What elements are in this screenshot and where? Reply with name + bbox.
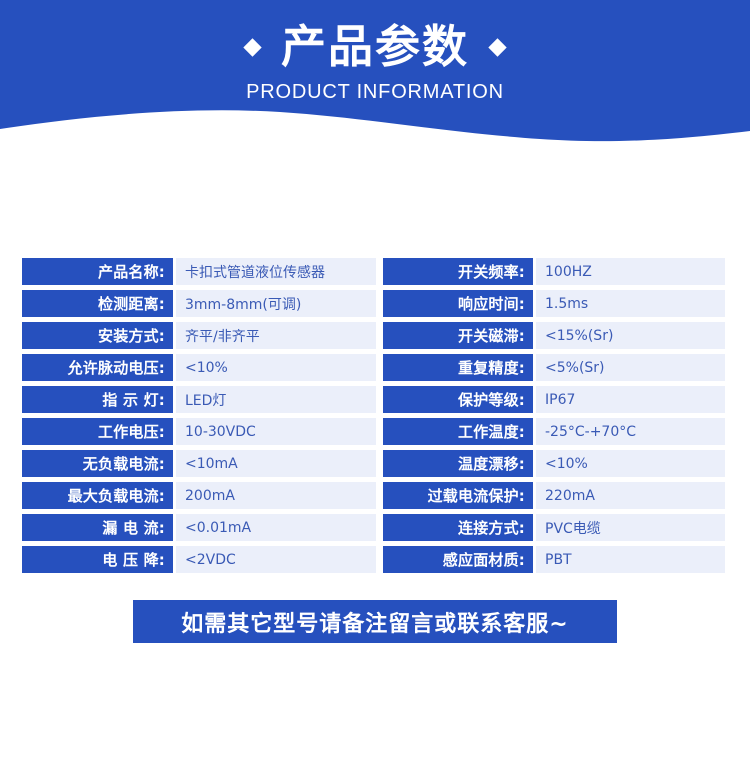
spec-label: 工作温度: [383, 418, 533, 445]
spec-value: 3mm-8mm(可调) [176, 290, 376, 317]
spec-label: 连接方式: [383, 514, 533, 541]
spec-label: 保护等级: [383, 386, 533, 413]
spec-label: 开关磁滞: [383, 322, 533, 349]
specification-tables: 产品名称: 卡扣式管道液位传感器 检测距离: 3mm-8mm(可调) 安装方式:… [0, 258, 750, 573]
table-row: 最大负载电流: 200mA [22, 482, 376, 509]
spec-label: 指 示 灯: [22, 386, 173, 413]
table-row: 安装方式: 齐平/非齐平 [22, 322, 376, 349]
spec-label: 最大负载电流: [22, 482, 173, 509]
table-row: 电 压 降: <2VDC [22, 546, 376, 573]
spec-value: 200mA [176, 482, 376, 509]
table-row: 工作电压: 10-30VDC [22, 418, 376, 445]
spec-value: 卡扣式管道液位传感器 [176, 258, 376, 285]
table-row: 漏 电 流: <0.01mA [22, 514, 376, 541]
spec-value: PBT [536, 546, 725, 573]
spec-value: 220mA [536, 482, 725, 509]
spec-value: 齐平/非齐平 [176, 322, 376, 349]
table-row: 开关磁滞: <15%(Sr) [383, 322, 725, 349]
table-row: 无负载电流: <10mA [22, 450, 376, 477]
table-row: 温度漂移: <10% [383, 450, 725, 477]
spec-label: 安装方式: [22, 322, 173, 349]
spec-value: <5%(Sr) [536, 354, 725, 381]
spec-value: 100HZ [536, 258, 725, 285]
header-content: 产品参数 PRODUCT INFORMATION [0, 0, 750, 130]
spec-value: <10mA [176, 450, 376, 477]
spec-label: 无负载电流: [22, 450, 173, 477]
spec-value: PVC电缆 [536, 514, 725, 541]
spec-label: 工作电压: [22, 418, 173, 445]
spec-table-right: 开关频率: 100HZ 响应时间: 1.5ms 开关磁滞: <15%(Sr) 重… [383, 258, 725, 573]
spec-label: 漏 电 流: [22, 514, 173, 541]
spec-value: 1.5ms [536, 290, 725, 317]
spec-label: 开关频率: [383, 258, 533, 285]
page-title-row: 产品参数 [246, 22, 504, 72]
table-row: 重复精度: <5%(Sr) [383, 354, 725, 381]
spec-value: LED灯 [176, 386, 376, 413]
spec-label: 检测距离: [22, 290, 173, 317]
spec-label: 产品名称: [22, 258, 173, 285]
spec-value: <0.01mA [176, 514, 376, 541]
spec-label: 电 压 降: [22, 546, 173, 573]
diamond-icon-left [243, 38, 261, 56]
table-row: 开关频率: 100HZ [383, 258, 725, 285]
spec-value: IP67 [536, 386, 725, 413]
spec-value: <15%(Sr) [536, 322, 725, 349]
spec-label: 响应时间: [383, 290, 533, 317]
spec-value: <10% [536, 450, 725, 477]
spec-label: 感应面材质: [383, 546, 533, 573]
spec-label: 过载电流保护: [383, 482, 533, 509]
spec-label: 允许脉动电压: [22, 354, 173, 381]
table-row: 允许脉动电压: <10% [22, 354, 376, 381]
table-row: 工作温度: -25°C-+70°C [383, 418, 725, 445]
table-row: 响应时间: 1.5ms [383, 290, 725, 317]
contact-service-banner: 如需其它型号请备注留言或联系客服~ [133, 600, 617, 643]
spec-value: 10-30VDC [176, 418, 376, 445]
table-row: 过载电流保护: 220mA [383, 482, 725, 509]
spec-value: <10% [176, 354, 376, 381]
spec-value: -25°C-+70°C [536, 418, 725, 445]
page-title: 产品参数 [281, 22, 469, 72]
table-row: 连接方式: PVC电缆 [383, 514, 725, 541]
table-row: 感应面材质: PBT [383, 546, 725, 573]
page-subtitle: PRODUCT INFORMATION [246, 80, 504, 104]
spec-label: 温度漂移: [383, 450, 533, 477]
spec-label: 重复精度: [383, 354, 533, 381]
spec-value: <2VDC [176, 546, 376, 573]
page-header: 产品参数 PRODUCT INFORMATION [0, 0, 750, 145]
table-row: 检测距离: 3mm-8mm(可调) [22, 290, 376, 317]
spec-table-left: 产品名称: 卡扣式管道液位传感器 检测距离: 3mm-8mm(可调) 安装方式:… [22, 258, 376, 573]
table-row: 产品名称: 卡扣式管道液位传感器 [22, 258, 376, 285]
table-row: 指 示 灯: LED灯 [22, 386, 376, 413]
diamond-icon-right [488, 38, 506, 56]
table-row: 保护等级: IP67 [383, 386, 725, 413]
